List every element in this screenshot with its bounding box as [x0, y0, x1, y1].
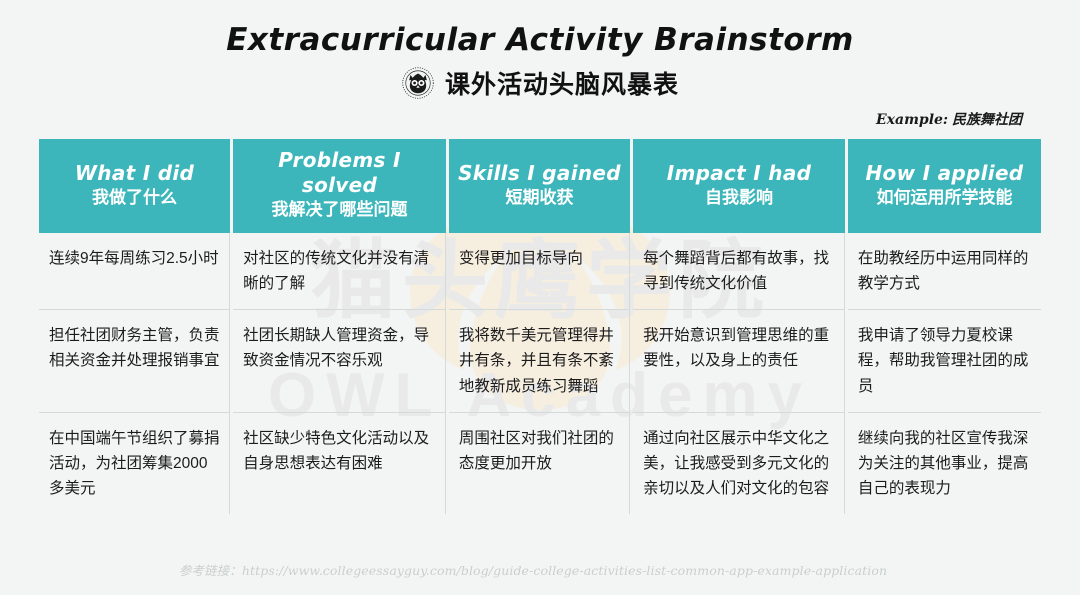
- footer-label: 参考链接：: [179, 564, 242, 578]
- table-row: 担任社团财务主管，负责相关资金并处理报销事宜 社团长期缺人管理资金，导致资金情况…: [39, 310, 1041, 412]
- column-header-en: How I applied: [852, 161, 1037, 186]
- subtitle-row: 课外活动头脑风暴表: [36, 65, 1044, 101]
- page-title-cn: 课外活动头脑风暴表: [445, 65, 679, 101]
- table-cell: 我开始意识到管理思维的重要性，以及身上的责任: [633, 310, 845, 412]
- column-header-skills-i-gained: Skills I gained 短期收获: [449, 139, 630, 233]
- table-cell: 连续9年每周练习2.5小时: [39, 233, 230, 310]
- table-row: 在中国端午节组织了募捐活动，为社团筹集2000多美元 社区缺少特色文化活动以及自…: [39, 413, 1041, 514]
- column-header-cn: 自我影响: [637, 187, 841, 210]
- footer-reference: 参考链接：https://www.collegeessayguy.com/blo…: [0, 560, 1080, 579]
- page-title-en: Extracurricular Activity Brainstorm: [36, 0, 1044, 59]
- example-label: Example:: [876, 112, 948, 128]
- table-cell: 每个舞蹈背后都有故事，找寻到传统文化价值: [633, 233, 845, 310]
- table-cell: 周围社区对我们社团的态度更加开放: [449, 413, 630, 514]
- table-cell: 我申请了领导力夏校课程，帮助我管理社团的成员: [848, 310, 1041, 412]
- column-header-cn: 我做了什么: [43, 187, 226, 210]
- table-cell: 社团长期缺人管理资金，导致资金情况不容乐观: [233, 310, 446, 412]
- table-cell: 社区缺少特色文化活动以及自身思想表达有困难: [233, 413, 446, 514]
- column-header-en: What I did: [43, 161, 226, 186]
- table-cell: 通过向社区展示中华文化之美，让我感受到多元文化的亲切以及人们对文化的包容: [633, 413, 845, 514]
- table-cell: 在助教经历中运用同样的教学方式: [848, 233, 1041, 310]
- column-header-how-i-applied: How I applied 如何运用所学技能: [848, 139, 1041, 233]
- example-annotation: Example: 民族舞社团: [36, 109, 1044, 129]
- table-row: 连续9年每周练习2.5小时 对社区的传统文化并没有清晰的了解 变得更加目标导向 …: [39, 233, 1041, 310]
- column-header-problems-i-solved: Problems I solved 我解决了哪些问题: [233, 139, 446, 233]
- table-cell: 我将数千美元管理得井井有条，并且有条不紊地教新成员练习舞蹈: [449, 310, 630, 412]
- owl-logo-icon: [401, 66, 435, 100]
- table-cell: 继续向我的社区宣传我深为关注的其他事业，提高自己的表现力: [848, 413, 1041, 514]
- slide-page: Extracurricular Activity Brainstorm 课外活动…: [0, 0, 1080, 595]
- column-header-cn: 我解决了哪些问题: [237, 199, 442, 222]
- footer-url[interactable]: https://www.collegeessayguy.com/blog/gui…: [242, 563, 887, 578]
- table-header-row: What I did 我做了什么 Problems I solved 我解决了哪…: [39, 139, 1041, 233]
- column-header-cn: 如何运用所学技能: [852, 187, 1037, 210]
- column-header-cn: 短期收获: [453, 187, 626, 210]
- column-header-en: Problems I solved: [237, 148, 442, 198]
- table-cell: 对社区的传统文化并没有清晰的了解: [233, 233, 446, 310]
- example-value: 民族舞社团: [952, 111, 1022, 127]
- column-header-impact-i-had: Impact I had 自我影响: [633, 139, 845, 233]
- brainstorm-table: What I did 我做了什么 Problems I solved 我解决了哪…: [36, 139, 1044, 514]
- table-cell: 在中国端午节组织了募捐活动，为社团筹集2000多美元: [39, 413, 230, 514]
- table-cell: 变得更加目标导向: [449, 233, 630, 310]
- table-cell: 担任社团财务主管，负责相关资金并处理报销事宜: [39, 310, 230, 412]
- column-header-en: Impact I had: [637, 161, 841, 186]
- column-header-what-i-did: What I did 我做了什么: [39, 139, 230, 233]
- column-header-en: Skills I gained: [453, 161, 626, 186]
